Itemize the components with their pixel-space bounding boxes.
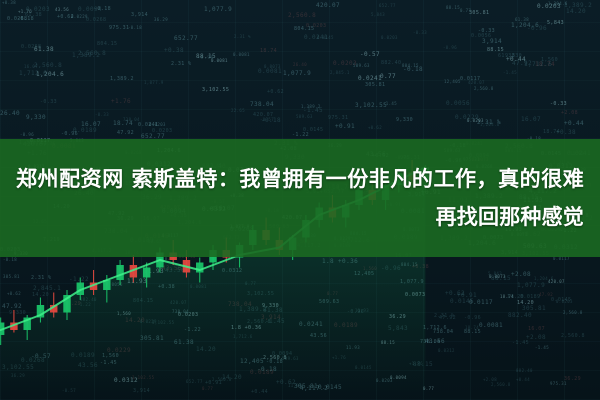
- candle-body: [143, 268, 150, 278]
- candle-body: [196, 263, 203, 273]
- candle-body: [116, 265, 123, 280]
- headline-band: 郑州配资网 索斯盖特：我曾拥有一份非凡的工作，真的很难再找回那种感觉: [0, 139, 600, 257]
- banner-image: 16.070.771,712.60.011743.5618.74652.7742…: [0, 0, 600, 400]
- headline-text: 郑州配资网 索斯盖特：我曾拥有一份非凡的工作，真的很难再找回那种感觉: [0, 160, 600, 236]
